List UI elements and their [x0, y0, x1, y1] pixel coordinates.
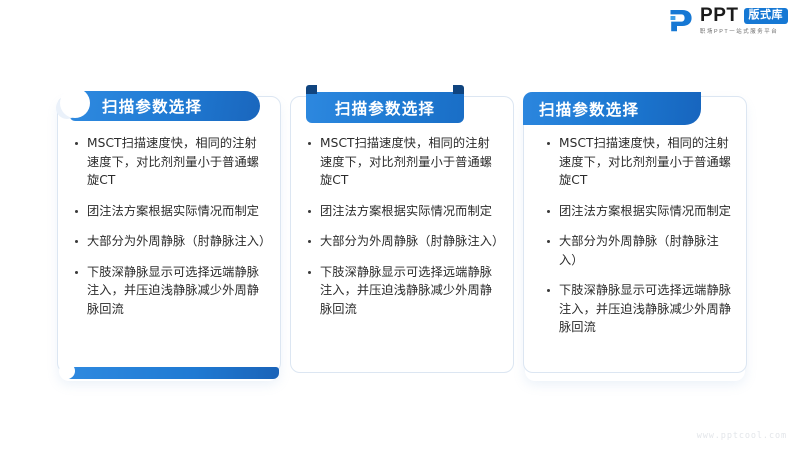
card-2-fold-right-icon — [453, 85, 464, 94]
list-item: 下肢深静脉显示可选择远端静脉注入，并压迫浅静脉减少外周静脉回流 — [308, 263, 500, 319]
card-3-header: 扫描参数选择 — [523, 92, 701, 125]
site-watermark: www.pptcool.com — [697, 431, 787, 441]
list-item: MSCT扫描速度快，相同的注射速度下，对比剂剂量小于普通螺旋CT — [308, 134, 500, 190]
info-card-2: 扫描参数选择 MSCT扫描速度快，相同的注射速度下，对比剂剂量小于普通螺旋CT … — [290, 82, 514, 387]
bullet-text: 团注法方案根据实际情况而制定 — [320, 202, 492, 221]
brand-tag: 版式库 — [744, 8, 789, 24]
brand-text: PPT 版式库 职场PPT一站式服务平台 — [700, 6, 788, 36]
bullet-dot-icon — [547, 289, 550, 292]
card-3-title: 扫描参数选择 — [539, 98, 639, 120]
info-card-1: 扫描参数选择 MSCT扫描速度快，相同的注射速度下，对比剂剂量小于普通螺旋CT … — [57, 82, 281, 387]
bullet-text: 团注法方案根据实际情况而制定 — [559, 202, 731, 221]
list-item: 团注法方案根据实际情况而制定 — [547, 202, 733, 221]
card-1-header: 扫描参数选择 — [69, 91, 260, 121]
bullet-dot-icon — [547, 240, 550, 243]
list-item: 下肢深静脉显示可选择远端静脉注入，并压迫浅静脉减少外周静脉回流 — [547, 281, 733, 337]
bullet-text: 大部分为外周静脉（肘静脉注入） — [320, 232, 500, 251]
bullet-text: 大部分为外周静脉（肘静脉注入） — [87, 232, 267, 251]
card-2-header: 扫描参数选择 — [306, 92, 464, 123]
ppt-logo-p-mark-icon — [668, 7, 695, 34]
brand-title-row: PPT 版式库 — [700, 6, 788, 26]
card-1-footer-notch-icon — [59, 363, 75, 379]
list-item: MSCT扫描速度快，相同的注射速度下，对比剂剂量小于普通螺旋CT — [547, 134, 733, 190]
card-row: 扫描参数选择 MSCT扫描速度快，相同的注射速度下，对比剂剂量小于普通螺旋CT … — [57, 82, 747, 387]
bullet-dot-icon — [75, 271, 78, 274]
bullet-dot-icon — [308, 142, 311, 145]
brand-name: PPT — [700, 6, 738, 26]
bullet-dot-icon — [75, 210, 78, 213]
card-2-title: 扫描参数选择 — [335, 97, 435, 119]
brand-logo: PPT 版式库 职场PPT一站式服务平台 — [668, 6, 788, 36]
card-1-header-bite-icon — [60, 88, 90, 118]
brand-subtitle: 职场PPT一站式服务平台 — [700, 28, 778, 36]
bullet-text: 下肢深静脉显示可选择远端静脉注入，并压迫浅静脉减少外周静脉回流 — [320, 263, 500, 319]
card-2-bullet-list: MSCT扫描速度快，相同的注射速度下，对比剂剂量小于普通螺旋CT 团注法方案根据… — [308, 134, 500, 318]
list-item: 下肢深静脉显示可选择远端静脉注入，并压迫浅静脉减少外周静脉回流 — [75, 263, 267, 319]
card-1-bullet-list: MSCT扫描速度快，相同的注射速度下，对比剂剂量小于普通螺旋CT 团注法方案根据… — [75, 134, 267, 318]
bullet-dot-icon — [75, 240, 78, 243]
bullet-dot-icon — [547, 210, 550, 213]
bullet-dot-icon — [75, 142, 78, 145]
card-1-footer-bar — [65, 367, 279, 379]
list-item: 大部分为外周静脉（肘静脉注入） — [547, 232, 733, 269]
bullet-text: MSCT扫描速度快，相同的注射速度下，对比剂剂量小于普通螺旋CT — [87, 134, 267, 190]
bullet-dot-icon — [308, 210, 311, 213]
bullet-dot-icon — [308, 271, 311, 274]
list-item: MSCT扫描速度快，相同的注射速度下，对比剂剂量小于普通螺旋CT — [75, 134, 267, 190]
list-item: 大部分为外周静脉（肘静脉注入） — [75, 232, 267, 251]
bullet-text: 团注法方案根据实际情况而制定 — [87, 202, 259, 221]
card-3-bullet-list: MSCT扫描速度快，相同的注射速度下，对比剂剂量小于普通螺旋CT 团注法方案根据… — [547, 134, 733, 337]
bullet-text: MSCT扫描速度快，相同的注射速度下，对比剂剂量小于普通螺旋CT — [559, 134, 733, 190]
bullet-dot-icon — [308, 240, 311, 243]
card-2-fold-left-icon — [306, 85, 317, 94]
info-card-3: 扫描参数选择 MSCT扫描速度快，相同的注射速度下，对比剂剂量小于普通螺旋CT … — [523, 82, 747, 387]
bullet-text: MSCT扫描速度快，相同的注射速度下，对比剂剂量小于普通螺旋CT — [320, 134, 500, 190]
list-item: 大部分为外周静脉（肘静脉注入） — [308, 232, 500, 251]
card-1-title: 扫描参数选择 — [102, 95, 202, 117]
bullet-text: 下肢深静脉显示可选择远端静脉注入，并压迫浅静脉减少外周静脉回流 — [87, 263, 267, 319]
bullet-dot-icon — [547, 142, 550, 145]
bullet-text: 下肢深静脉显示可选择远端静脉注入，并压迫浅静脉减少外周静脉回流 — [559, 281, 733, 337]
list-item: 团注法方案根据实际情况而制定 — [308, 202, 500, 221]
list-item: 团注法方案根据实际情况而制定 — [75, 202, 267, 221]
bullet-text: 大部分为外周静脉（肘静脉注入） — [559, 232, 733, 269]
